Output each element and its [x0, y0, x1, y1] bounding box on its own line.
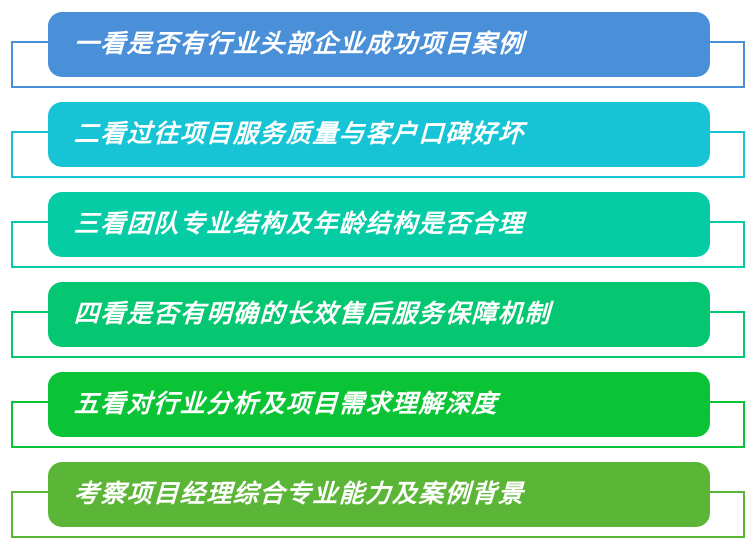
row-label: 五看对行业分析及项目需求理解深度	[48, 392, 499, 417]
row-label: 四看是否有明确的长效售后服务保障机制	[48, 302, 552, 327]
row-label: 三看团队专业结构及年龄结构是否合理	[48, 212, 525, 237]
row-label: 考察项目经理综合专业能力及案例背景	[48, 482, 525, 507]
diagram-canvas: 一看是否有行业头部企业成功项目案例二看过往项目服务质量与客户口碑好坏三看团队专业…	[0, 0, 750, 541]
row-pill[interactable]: 三看团队专业结构及年龄结构是否合理	[48, 192, 710, 257]
row-pill[interactable]: 五看对行业分析及项目需求理解深度	[48, 372, 710, 437]
row-pill[interactable]: 一看是否有行业头部企业成功项目案例	[48, 12, 710, 77]
diagram-row-4[interactable]: 四看是否有明确的长效售后服务保障机制	[0, 282, 750, 372]
row-label: 二看过往项目服务质量与客户口碑好坏	[48, 122, 525, 147]
row-pill[interactable]: 考察项目经理综合专业能力及案例背景	[48, 462, 710, 527]
diagram-row-3[interactable]: 三看团队专业结构及年龄结构是否合理	[0, 192, 750, 282]
diagram-row-2[interactable]: 二看过往项目服务质量与客户口碑好坏	[0, 102, 750, 192]
diagram-row-5[interactable]: 五看对行业分析及项目需求理解深度	[0, 372, 750, 462]
row-pill[interactable]: 二看过往项目服务质量与客户口碑好坏	[48, 102, 710, 167]
diagram-row-1[interactable]: 一看是否有行业头部企业成功项目案例	[0, 12, 750, 102]
diagram-row-6[interactable]: 考察项目经理综合专业能力及案例背景	[0, 462, 750, 552]
row-label: 一看是否有行业头部企业成功项目案例	[48, 32, 525, 57]
row-pill[interactable]: 四看是否有明确的长效售后服务保障机制	[48, 282, 710, 347]
